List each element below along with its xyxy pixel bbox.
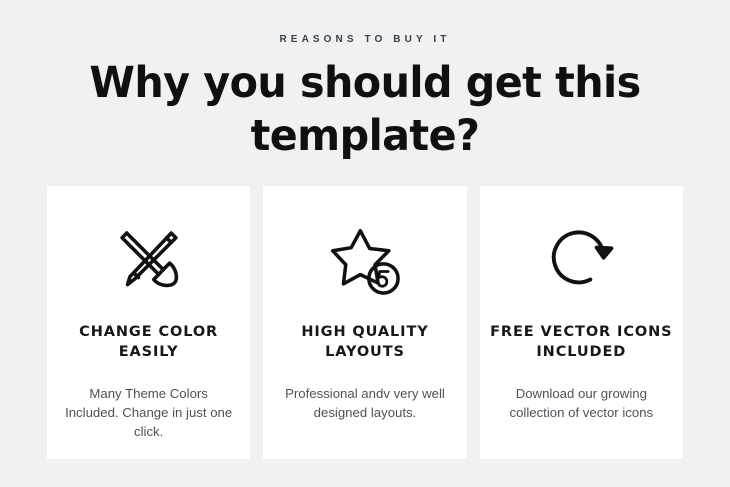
feature-card-title: HIGH QUALITY LAYOUTS bbox=[270, 322, 460, 362]
section-eyebrow: REASONS TO BUY IT bbox=[0, 34, 730, 45]
feature-card-list: CHANGE COLOR EASILY Many Theme Colors In… bbox=[47, 186, 683, 459]
feature-card-title: CHANGE COLOR EASILY bbox=[54, 322, 244, 362]
features-section: REASONS TO BUY IT Why you should get thi… bbox=[0, 0, 730, 487]
feature-card-free-icons: FREE VECTOR ICONS INCLUDED Download our … bbox=[480, 186, 683, 459]
page-title: Why you should get this template? bbox=[15, 57, 716, 163]
feature-card-body: Download our growing collection of vecto… bbox=[496, 384, 666, 422]
feature-card-body: Many Theme Colors Included. Change in ju… bbox=[64, 384, 234, 441]
pencil-paintbrush-crossed-icon bbox=[47, 214, 250, 306]
feature-card-body: Professional andv very well designed lay… bbox=[280, 384, 450, 422]
star-rating-five-badge-icon bbox=[263, 214, 466, 306]
feature-card-high-quality: HIGH QUALITY LAYOUTS Professional andv v… bbox=[263, 186, 466, 459]
feature-card-change-color: CHANGE COLOR EASILY Many Theme Colors In… bbox=[47, 186, 250, 459]
circular-refresh-arrow-icon bbox=[480, 214, 683, 306]
feature-card-title: FREE VECTOR ICONS INCLUDED bbox=[486, 322, 676, 362]
